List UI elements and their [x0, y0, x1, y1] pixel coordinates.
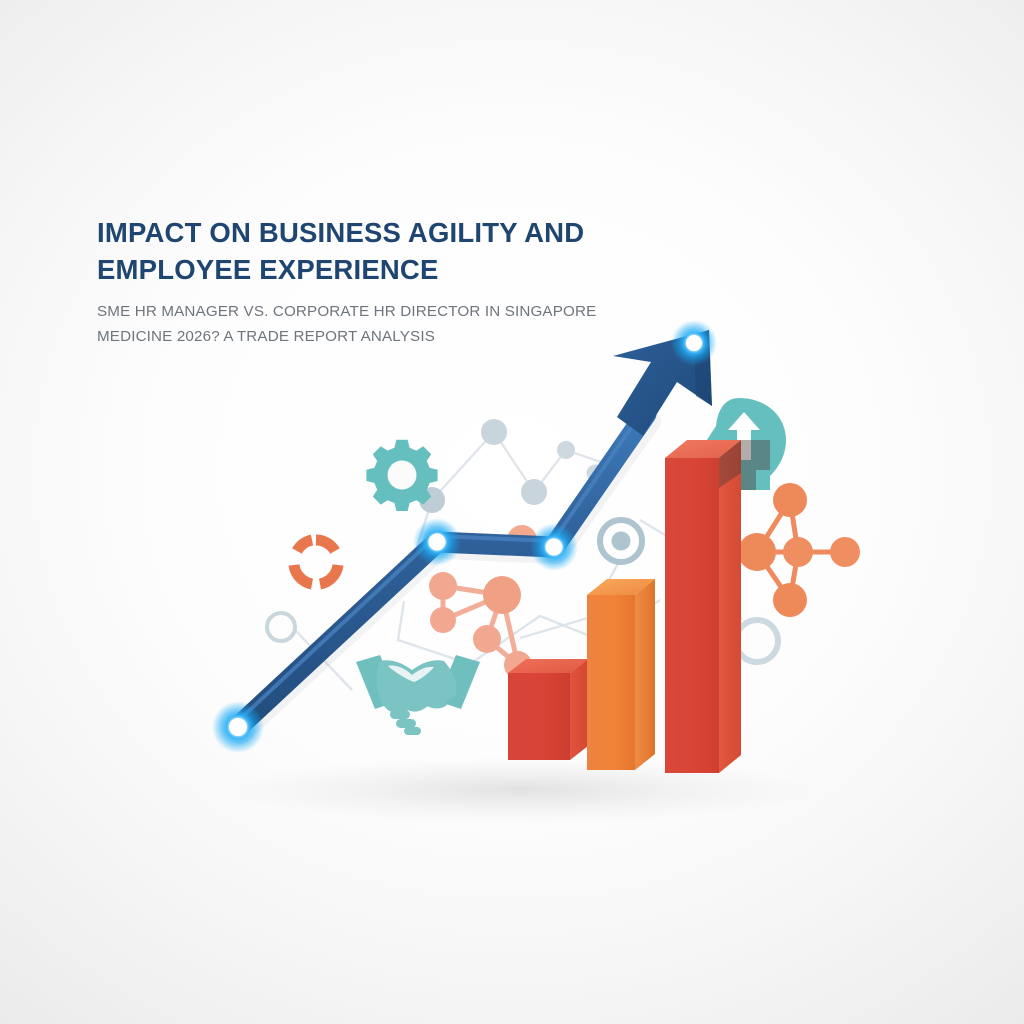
circle-outline-icon-right [736, 620, 778, 662]
page-title: IMPACT ON BUSINESS AGILITY AND EMPLOYEE … [97, 214, 697, 289]
target-rings-icon [600, 520, 642, 562]
donut-chart-icon [294, 540, 338, 584]
bar-medium-orange [587, 579, 655, 770]
arrow-node-start [212, 701, 264, 753]
bar-short-red [508, 659, 588, 760]
header-text-block: IMPACT ON BUSINESS AGILITY AND EMPLOYEE … [97, 214, 697, 349]
gear-icon [366, 440, 437, 511]
circle-outline-icon [267, 613, 295, 641]
infographic-illustration [0, 0, 1024, 1024]
network-node-icon-orange [738, 483, 860, 617]
page-subtitle: SME HR MANAGER VS. CORPORATE HR DIRECTOR… [97, 300, 697, 350]
arrow-node-mid-2 [530, 523, 578, 571]
poster-canvas: IMPACT ON BUSINESS AGILITY AND EMPLOYEE … [0, 0, 1024, 1024]
floor-shadow [220, 756, 820, 824]
arrow-node-mid-1 [413, 518, 461, 566]
handshake-icon [356, 655, 480, 735]
bar-tall-red [665, 440, 770, 773]
